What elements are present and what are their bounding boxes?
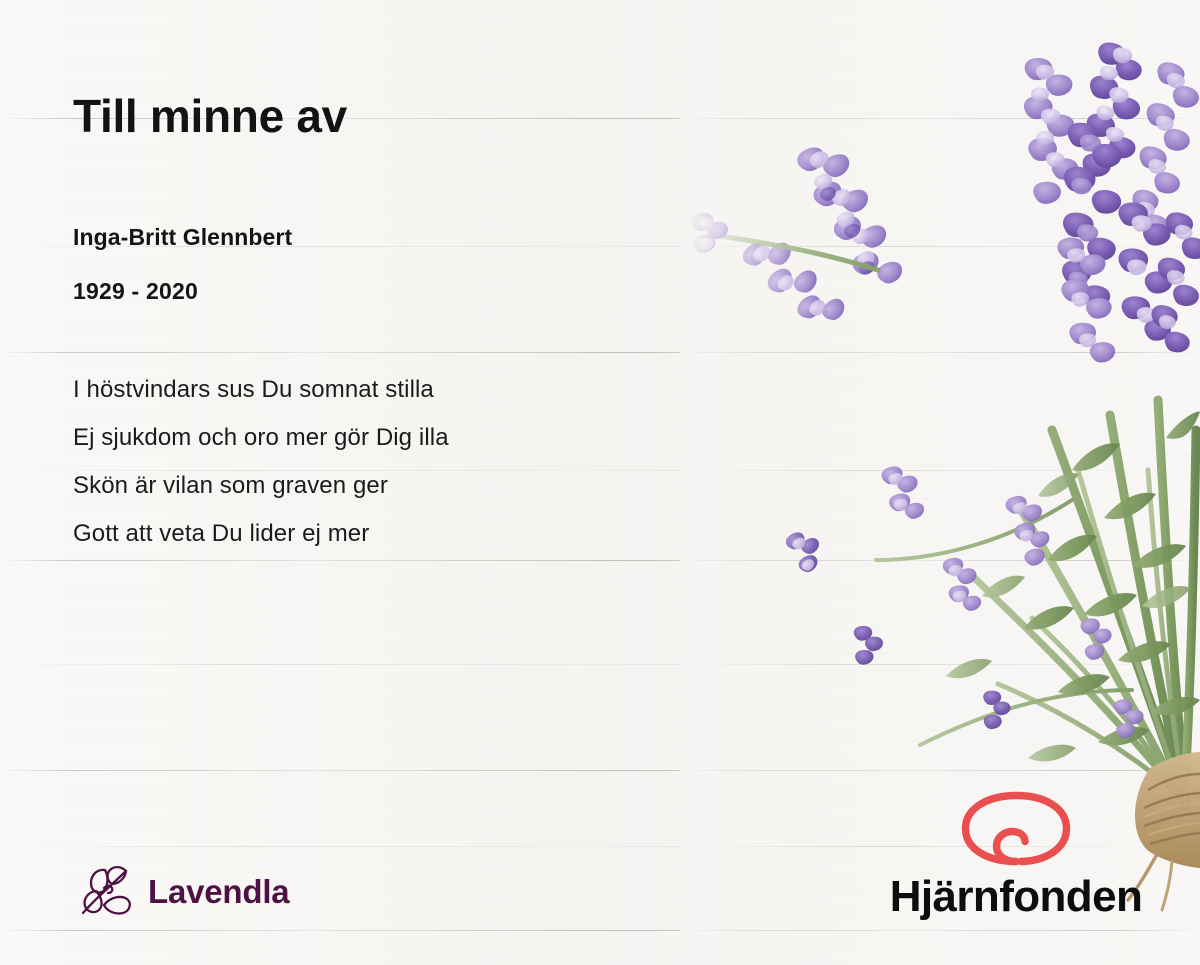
hjarnfonden-logo[interactable]: Hjärnfonden xyxy=(880,790,1152,920)
lavender-sprig-icon xyxy=(74,858,136,925)
poem-line: Skön är vilan som graven ger xyxy=(73,462,693,510)
poem-line: Ej sjukdom och oro mer gör Dig illa xyxy=(73,414,693,462)
poem-line: I höstvindars sus Du somnat stilla xyxy=(73,366,693,414)
lavendla-logo[interactable]: Lavendla xyxy=(74,858,289,925)
memorial-card: Till minne av Inga-Britt Glennbert 1929 … xyxy=(0,0,1200,965)
lavendla-wordmark: Lavendla xyxy=(148,875,289,908)
hjarnfonden-wordmark: Hjärnfonden xyxy=(880,875,1152,920)
page-title: Till minne av xyxy=(73,89,347,143)
deceased-name: Inga-Britt Glennbert xyxy=(73,224,292,251)
poem-line: Gott att veta Du lider ej mer xyxy=(73,510,693,558)
deceased-dates: 1929 - 2020 xyxy=(73,278,198,305)
memorial-poem: I höstvindars sus Du somnat stilla Ej sj… xyxy=(73,366,693,558)
brain-spiral-icon xyxy=(880,790,1152,873)
